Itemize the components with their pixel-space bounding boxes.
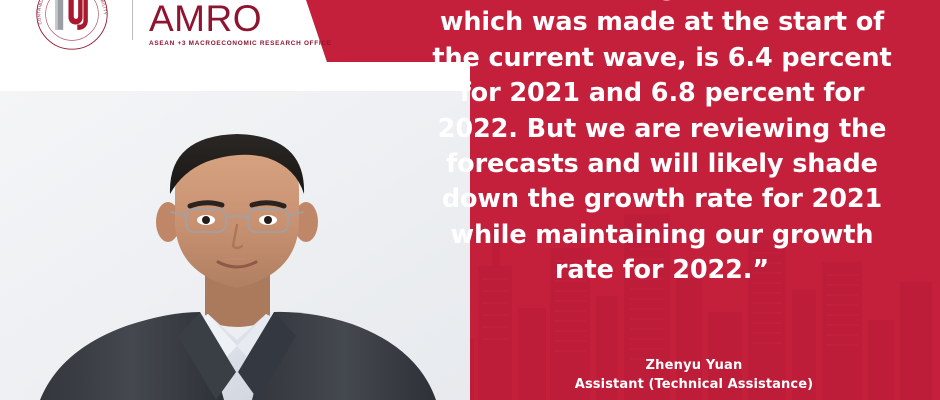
amro-wordmark: AMRO <box>149 1 332 37</box>
ten-years-anniversary-seal-icon: CONTRIBUTING STABILITY YEARS <box>26 0 118 50</box>
speaker-role: Assistant (Technical Assistance) <box>494 375 894 394</box>
quote-text: “As of now, our growth forecast, which w… <box>432 0 892 289</box>
quote-line: while maintaining our growth <box>432 218 892 253</box>
quote-line: rate for 2022.” <box>432 253 892 288</box>
amro-brand: AMRO ASEAN +3 MACROECONOMIC RESEARCH OFF… <box>149 0 332 47</box>
quote-line: 2022. But we are reviewing the <box>432 112 892 147</box>
portrait-photo <box>0 62 470 400</box>
quote-line: down the growth rate for 2021 <box>432 182 892 217</box>
quote-line: for 2021 and 6.8 percent for <box>432 76 892 111</box>
quote-card: CONTRIBUTING STABILITY YEARS AMRO ASEAN … <box>0 0 940 400</box>
seal-arc-right: STABILITY <box>95 0 108 15</box>
svg-text:STABILITY: STABILITY <box>95 0 108 15</box>
amro-logo-lockup: CONTRIBUTING STABILITY YEARS AMRO ASEAN … <box>0 0 332 52</box>
attribution: Zhenyu Yuan Assistant (Technical Assista… <box>494 356 894 394</box>
amro-tagline: ASEAN +3 MACROECONOMIC RESEARCH OFFICE <box>149 40 332 47</box>
quote-line: forecasts and will likely shade <box>432 147 892 182</box>
logo-divider <box>132 0 133 40</box>
quote-line: which was made at the start of <box>432 5 892 40</box>
quote-line: the current wave, is 6.4 percent <box>432 41 892 76</box>
speaker-name: Zhenyu Yuan <box>494 356 894 375</box>
